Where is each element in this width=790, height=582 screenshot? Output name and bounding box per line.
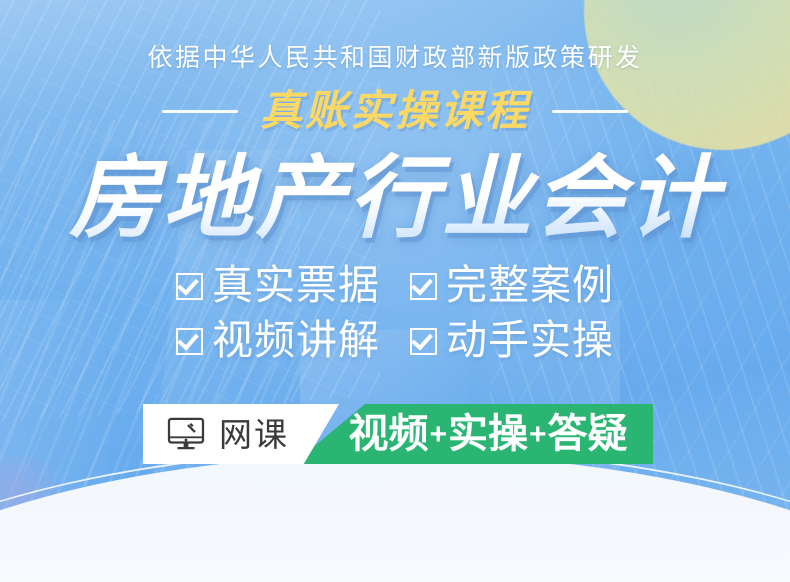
feature-row: 视频讲解 动手实操 xyxy=(176,317,614,364)
feature-label: 视频讲解 xyxy=(212,317,380,364)
plus-icon-2: + xyxy=(528,418,548,451)
checkbox-checked-icon xyxy=(410,273,437,300)
offer-part-1: 视频 xyxy=(348,412,428,456)
plus-icon-1: + xyxy=(428,418,448,451)
banner-subtitle: 依据中华人民共和国财政部新版政策研发 xyxy=(0,38,790,74)
feature-label: 真实票据 xyxy=(212,262,380,309)
checkbox-checked-icon xyxy=(176,273,203,300)
offer-bar-mode-label: 网课 xyxy=(219,418,289,451)
eyebrow-label: 真账实操课程 xyxy=(260,90,530,132)
offer-part-3: 答疑 xyxy=(548,412,628,456)
promo-banner: 依据中华人民共和国财政部新版政策研发 真账实操课程 房地产行业会计 真实票据 完… xyxy=(0,0,790,582)
page-title: 房地产行业会计 xyxy=(0,152,790,247)
checkbox-checked-icon xyxy=(410,328,437,355)
offer-bar-highlight-section: 视频+实操+答疑 xyxy=(293,404,653,464)
feature-label: 动手实操 xyxy=(446,317,614,364)
banner-content: 依据中华人民共和国财政部新版政策研发 真账实操课程 房地产行业会计 真实票据 完… xyxy=(0,0,790,582)
eyebrow-rule-left xyxy=(162,110,238,113)
list-item: 真实票据 xyxy=(176,262,380,309)
offer-part-2: 实操 xyxy=(448,412,528,456)
monitor-icon xyxy=(167,417,205,451)
list-item: 完整案例 xyxy=(410,262,614,309)
feature-row: 真实票据 完整案例 xyxy=(176,262,614,309)
offer-bar: 网课 视频+实操+答疑 xyxy=(143,404,653,464)
list-item: 视频讲解 xyxy=(176,317,380,364)
eyebrow-row: 真账实操课程 xyxy=(0,90,790,132)
offer-bar-offer-label: 视频+实操+答疑 xyxy=(348,414,627,454)
feature-list: 真实票据 完整案例 视频讲解 动手实操 xyxy=(0,262,790,364)
list-item: 动手实操 xyxy=(410,317,614,364)
checkbox-checked-icon xyxy=(176,328,203,355)
eyebrow-rule-right xyxy=(552,110,628,113)
feature-label: 完整案例 xyxy=(446,262,614,309)
